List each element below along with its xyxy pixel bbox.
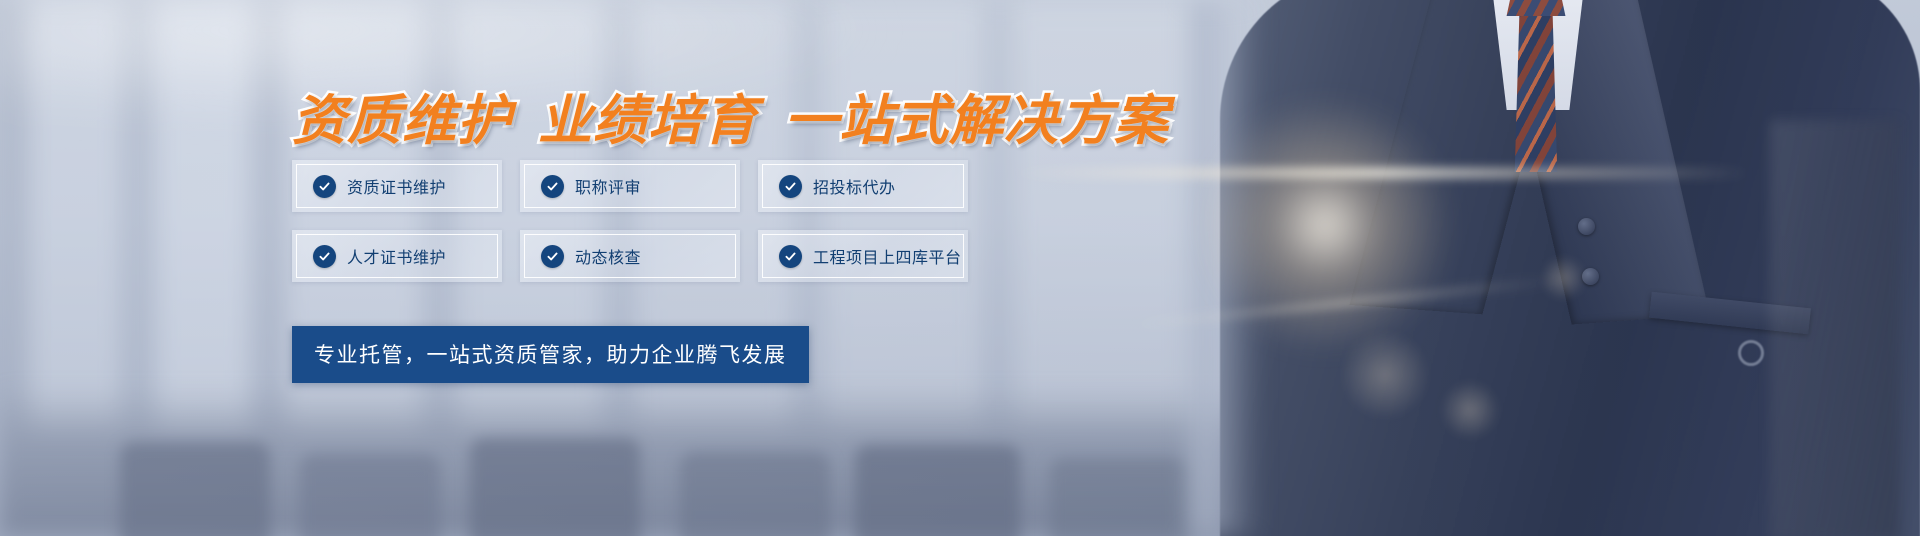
- banner-headline: 资质维护业绩培育一站式解决方案: [292, 76, 1169, 155]
- feature-card-label: 职称评审: [575, 174, 641, 198]
- check-circle-icon: [541, 175, 564, 198]
- check-circle-icon: [313, 245, 336, 268]
- feature-card-talent-certificate[interactable]: 人才证书维护: [292, 230, 502, 282]
- tagline-bar: 专业托管，一站式资质管家，助力企业腾飞发展: [292, 326, 809, 383]
- check-circle-icon: [779, 175, 802, 198]
- feature-card-grid: 资质证书维护 职称评审 招投标代办: [292, 160, 968, 282]
- suit-button: [1578, 218, 1595, 235]
- ring-detail: [1738, 340, 1764, 366]
- feature-card-label: 人才证书维护: [347, 244, 446, 268]
- feature-card-inner: 资质证书维护: [296, 164, 498, 208]
- check-circle-icon: [313, 175, 336, 198]
- feature-card-four-database-platform[interactable]: 工程项目上四库平台: [758, 230, 968, 282]
- promo-banner: 资质维护业绩培育一站式解决方案 资质证书维护 职称评审: [0, 0, 1920, 536]
- feature-card-label: 招投标代办: [813, 174, 896, 198]
- feature-card-inner: 职称评审: [524, 164, 736, 208]
- feature-card-inner: 人才证书维护: [296, 234, 498, 278]
- headline-part-1: 资质维护: [292, 89, 512, 152]
- suit-sleeve: [1770, 120, 1900, 536]
- feature-card-inner: 工程项目上四库平台: [762, 234, 964, 278]
- headline-part-3: 一站式解决方案: [784, 89, 1169, 152]
- check-circle-icon: [779, 245, 802, 268]
- headline-part-2: 业绩培育: [538, 89, 758, 152]
- feature-card-inner: 招投标代办: [762, 164, 964, 208]
- lens-flare-ghost: [1440, 380, 1500, 440]
- lens-flare-streak: [1010, 168, 1750, 178]
- feature-card-label: 资质证书维护: [347, 174, 446, 198]
- banner-content: 资质维护业绩培育一站式解决方案 资质证书维护 职称评审: [0, 0, 1100, 536]
- feature-card-label: 动态核查: [575, 244, 641, 268]
- feature-card-title-evaluation[interactable]: 职称评审: [520, 160, 740, 212]
- lens-flare-ghost: [1340, 330, 1430, 420]
- feature-card-qualification-certificate[interactable]: 资质证书维护: [292, 160, 502, 212]
- feature-card-bidding-agency[interactable]: 招投标代办: [758, 160, 968, 212]
- lens-flare-ghost: [1540, 255, 1586, 301]
- feature-card-inner: 动态核查: [524, 234, 736, 278]
- necktie-knot: [1504, 0, 1568, 16]
- feature-card-label: 工程项目上四库平台: [813, 244, 962, 268]
- feature-card-dynamic-verification[interactable]: 动态核查: [520, 230, 740, 282]
- check-circle-icon: [541, 245, 564, 268]
